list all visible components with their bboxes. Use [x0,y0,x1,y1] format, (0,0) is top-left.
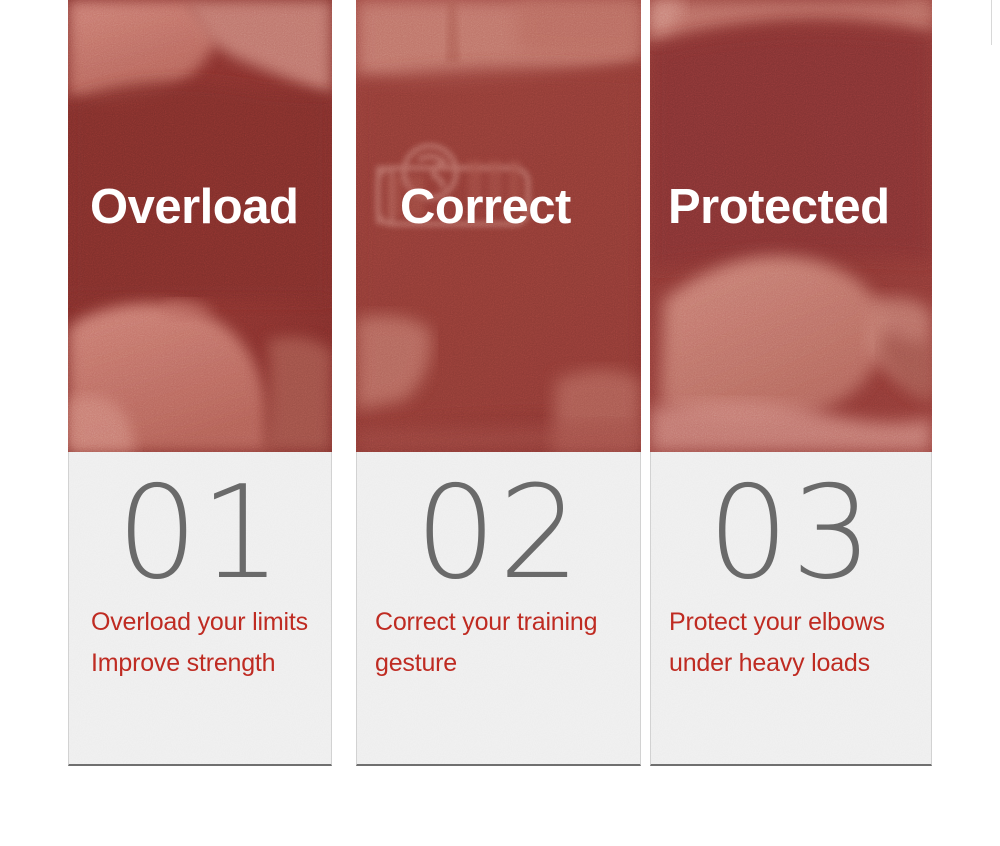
card-02-photo: Correct [356,0,641,452]
card-03-number: 03 [651,452,931,598]
card-02-number: 02 [357,452,640,598]
feature-card-01[interactable]: Overload 01 Overload your limits Improve… [68,0,332,766]
card-03-photo: Protected [650,0,932,452]
card-03-title: Protected [668,182,890,233]
card-01-title: Overload [90,182,298,233]
card-02-description: Correct your training gesture [357,598,640,683]
card-01-photo: Overload [68,0,332,452]
feature-cards-board: Overload 01 Overload your limits Improve… [0,0,1000,846]
card-03-info-panel: 03 Protect your elbows under heavy loads [650,452,932,766]
card-01-description: Overload your limits Improve strength [69,598,331,683]
card-01-info-panel: 01 Overload your limits Improve strength [68,452,332,766]
card-02-title: Correct [400,182,571,233]
card-03-description: Protect your elbows under heavy loads [651,598,931,683]
feature-card-03[interactable]: Protected 03 Protect your elbows under h… [650,0,932,766]
feature-card-02[interactable]: Correct 02 Correct your training gesture [356,0,641,766]
right-edge-artifact-line [991,0,992,45]
card-01-number: 01 [69,452,331,598]
card-02-info-panel: 02 Correct your training gesture [356,452,641,766]
